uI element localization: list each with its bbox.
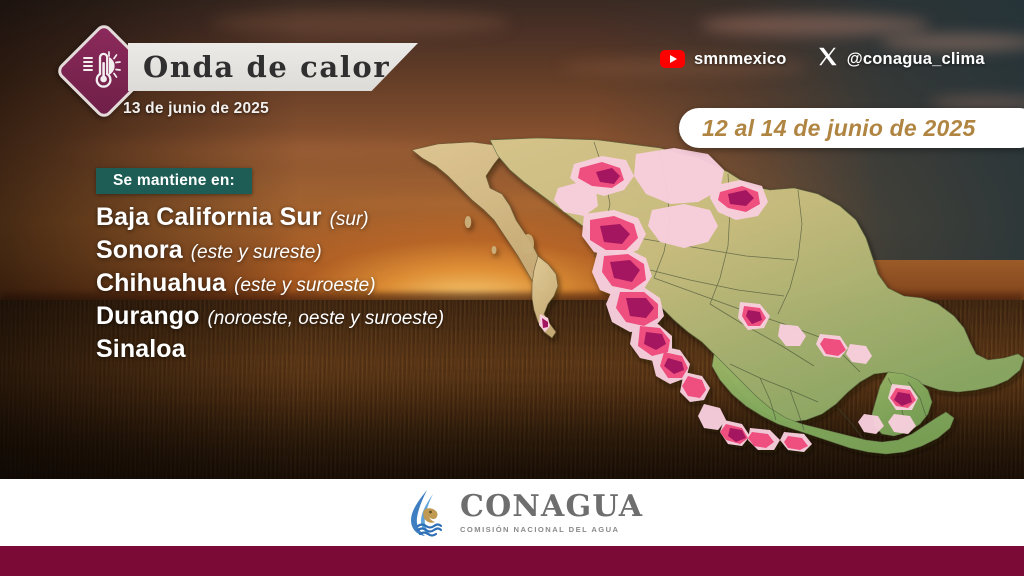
infographic-canvas: Onda de calor 13 de junio de 2025 smnmex…	[0, 0, 1024, 576]
conagua-logo: CONAGUA COMISIÓN NACIONAL DEL AGUA	[406, 487, 636, 539]
social-links: smnmexico @conagua_clima	[660, 44, 985, 74]
state-name: Sinaloa	[96, 335, 186, 364]
conagua-wordmark: CONAGUA	[460, 492, 643, 523]
list-item: Durango (noroeste, oeste y suroeste)	[96, 302, 526, 335]
list-item: Baja California Sur (sur)	[96, 203, 526, 236]
state-region-note: (sur)	[330, 209, 369, 231]
list-item: Sonora (este y sureste)	[96, 236, 526, 269]
state-name: Durango	[96, 302, 199, 331]
list-item: Sinaloa	[96, 335, 526, 368]
conagua-logo-text: CONAGUA COMISIÓN NACIONAL DEL AGUA	[460, 492, 643, 535]
youtube-handle: smnmexico	[694, 50, 787, 69]
footer-accent-bar	[0, 546, 1024, 576]
state-region-note: (noroeste, oeste y suroeste)	[207, 308, 444, 330]
date-range-label: 12 al 14 de junio de 2025	[702, 108, 1024, 148]
state-name: Sonora	[96, 236, 183, 265]
youtube-icon	[660, 50, 685, 68]
x-twitter-icon	[817, 46, 838, 72]
social-item-x[interactable]: @conagua_clima	[817, 46, 985, 72]
issue-date: 13 de junio de 2025	[123, 100, 269, 118]
status-badge: Se mantiene en:	[96, 168, 252, 194]
conagua-eagle-water-logo	[406, 488, 450, 538]
list-item: Chihuahua (este y suroeste)	[96, 269, 526, 302]
status-badge-label: Se mantiene en:	[113, 172, 235, 190]
state-region-note: (este y suroeste)	[234, 275, 376, 297]
state-region-note: (este y sureste)	[191, 242, 322, 264]
affected-states-list: Baja California Sur (sur) Sonora (este y…	[96, 203, 526, 368]
state-name: Chihuahua	[96, 269, 226, 298]
x-handle: @conagua_clima	[847, 50, 985, 69]
state-name: Baja California Sur	[96, 203, 322, 232]
social-item-youtube[interactable]: smnmexico	[660, 50, 787, 69]
page-title: Onda de calor	[143, 44, 403, 90]
conagua-subtitle: COMISIÓN NACIONAL DEL AGUA	[460, 525, 643, 534]
